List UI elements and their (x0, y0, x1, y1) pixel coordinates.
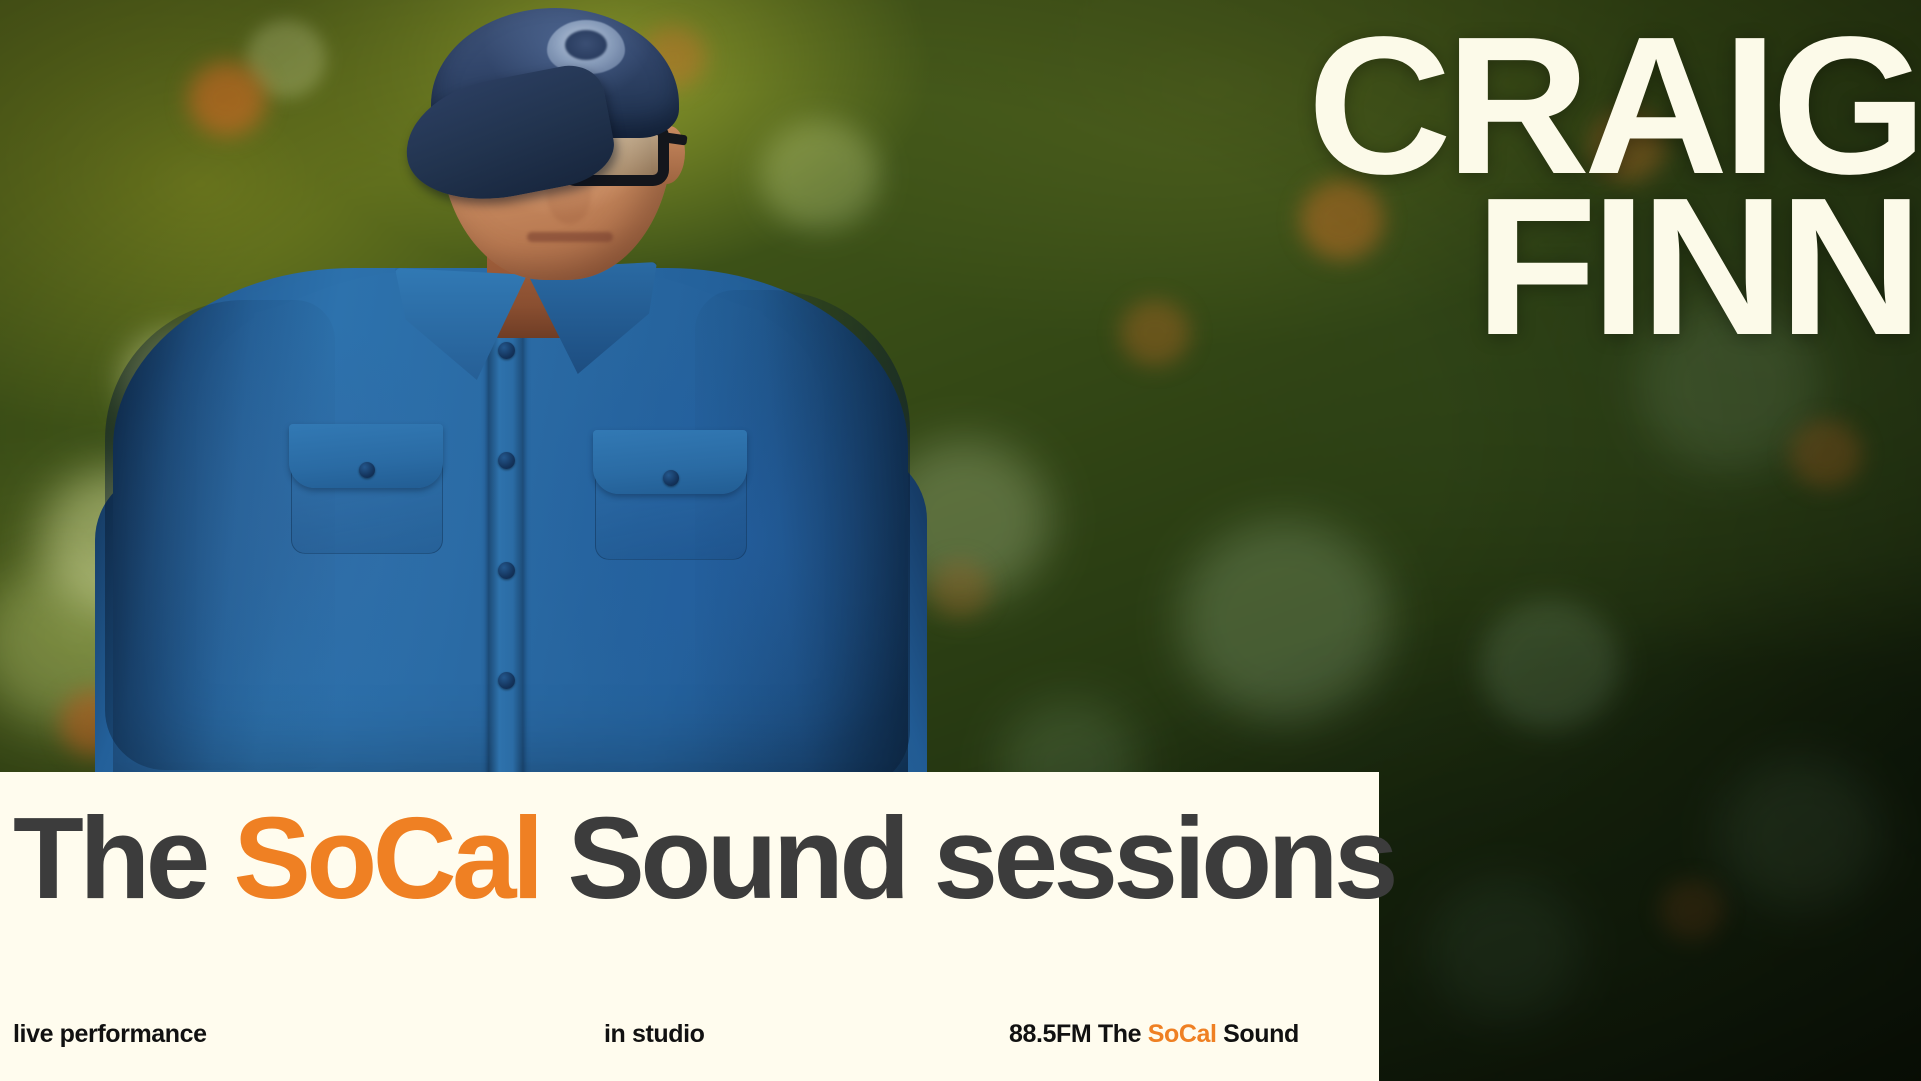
shirt-button (498, 562, 515, 579)
shirt-button (498, 342, 515, 359)
subject-figure (95, 0, 925, 820)
footer-in-studio: in studio (604, 1020, 705, 1049)
title-panel: The SoCal Sound sessions live performanc… (0, 772, 1379, 1081)
bokeh-highlight (1480, 600, 1620, 730)
poster-root: CRAIG FINN The SoCal Sound sessions live… (0, 0, 1921, 1081)
shirt-pocket-flap-left (289, 424, 443, 488)
cap-logo-inner-icon (565, 30, 607, 60)
bokeh-highlight (1430, 880, 1580, 1020)
fruit-blob (1660, 880, 1724, 940)
shirt-pocket-button-right (663, 470, 679, 486)
footer-live-performance: live performance (13, 1020, 207, 1049)
mouth (527, 232, 613, 242)
show-title: The SoCal Sound sessions (13, 800, 1394, 916)
footer-station-id: 88.5FM The SoCal Sound (1009, 1020, 1299, 1049)
show-title-accent: SoCal (233, 793, 539, 923)
fruit-blob (930, 560, 990, 618)
panel-footer: live performance in studio 88.5FM The So… (0, 1004, 1379, 1064)
station-id-accent: SoCal (1148, 1020, 1217, 1048)
bokeh-highlight (1720, 760, 1880, 910)
bokeh-highlight (1180, 520, 1390, 720)
shirt-button (498, 452, 515, 469)
artist-name: CRAIG FINN (861, 26, 1921, 347)
artist-name-line-2: FINN (840, 187, 1921, 348)
show-title-suffix: Sound sessions (540, 793, 1394, 923)
station-id-suffix: Sound (1217, 1020, 1299, 1048)
shirt-placket (489, 300, 523, 820)
fruit-blob (1790, 420, 1862, 488)
shirt-button (498, 672, 515, 689)
show-title-prefix: The (13, 793, 233, 923)
shirt-pocket-button-left (359, 462, 375, 478)
station-id-prefix: 88.5FM The (1009, 1020, 1148, 1048)
